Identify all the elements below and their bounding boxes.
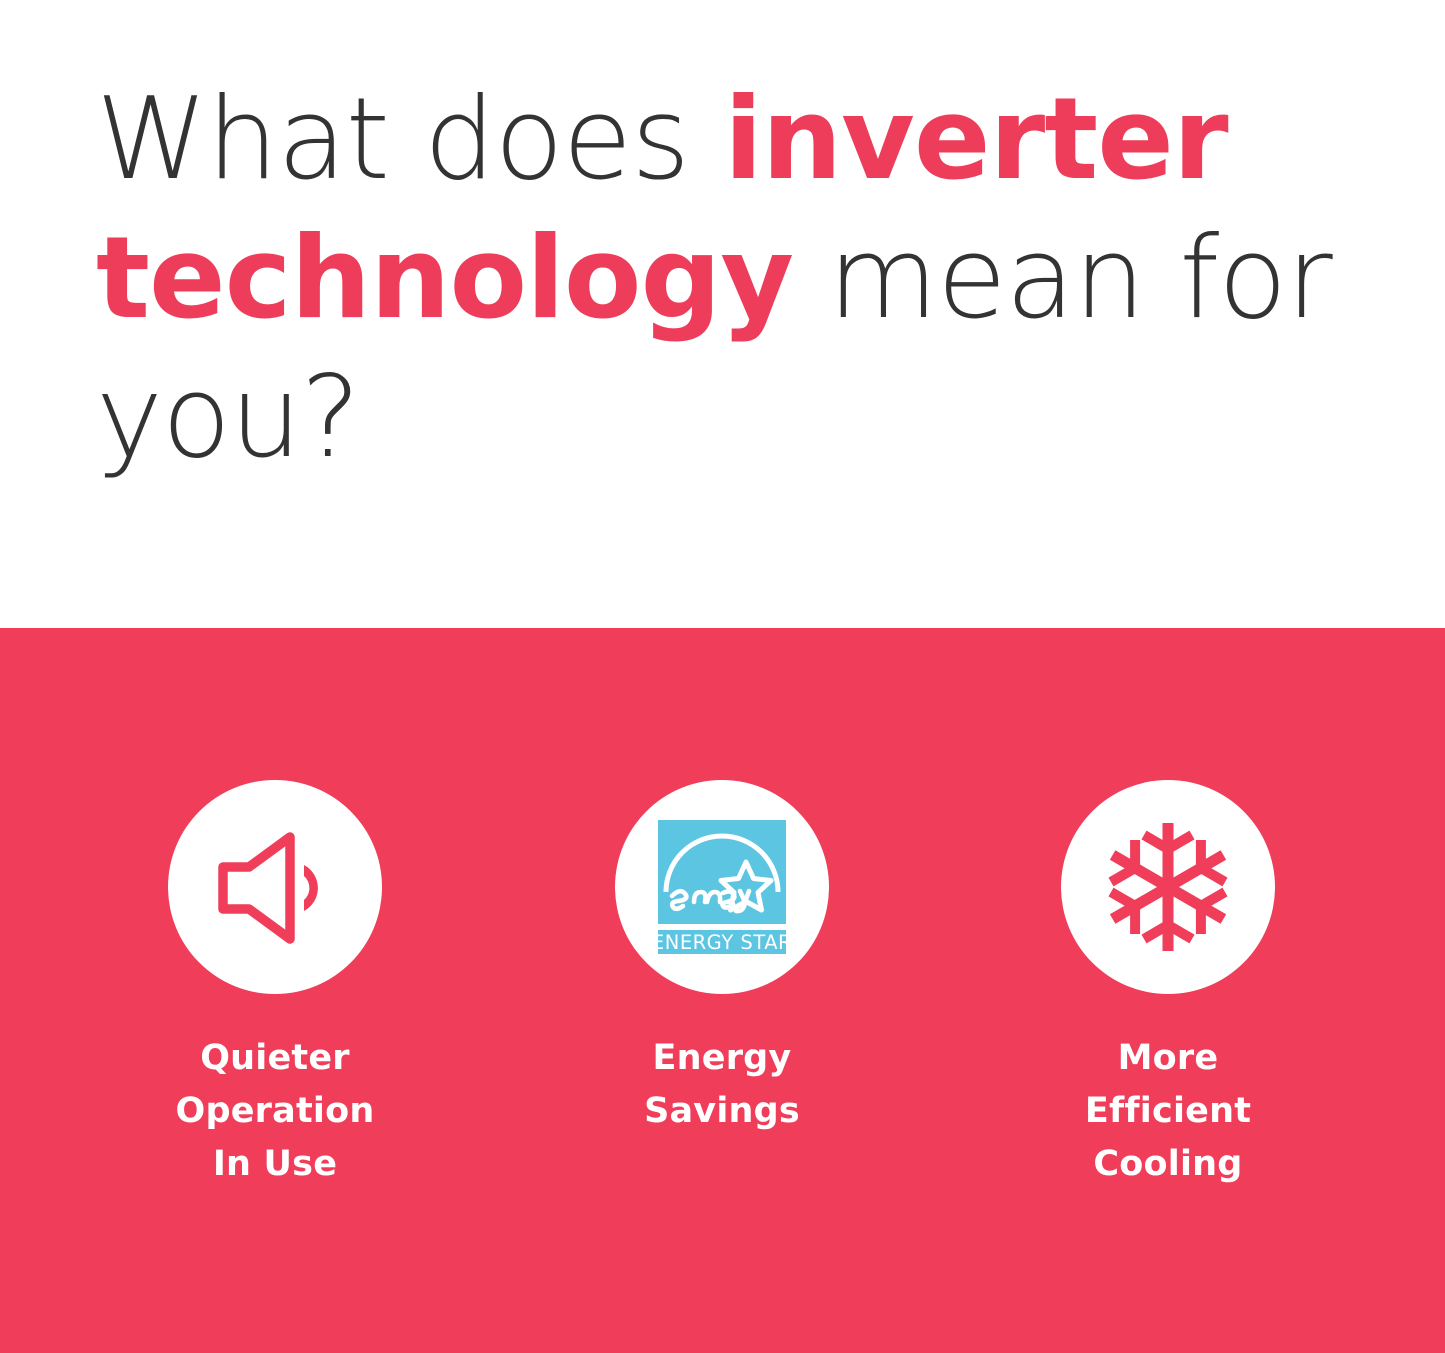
- feature-label-line-1: Energy: [653, 1038, 792, 1078]
- feature-label: EnergySavings: [644, 1032, 800, 1138]
- feature-label-line-2: Savings: [644, 1091, 800, 1131]
- feature-band: QuieterOperationIn Use: [0, 628, 1445, 1353]
- feature-list: QuieterOperationIn Use: [0, 628, 1445, 1353]
- feature-label: QuieterOperationIn Use: [176, 1032, 375, 1191]
- energy-star-caption: ENERGY STAR: [658, 931, 786, 954]
- page-title: What does inverter technology mean for y…: [96, 70, 1396, 487]
- speaker-volume-icon: [211, 823, 339, 951]
- feature-label-line-3: In Use: [213, 1144, 337, 1184]
- snowflake-icon: [1096, 815, 1240, 959]
- feature-label-line-1: More: [1118, 1038, 1219, 1078]
- icon-circle: [1061, 780, 1275, 994]
- hero-section: What does inverter technology mean for y…: [0, 0, 1445, 628]
- feature-label-line-2: Operation: [176, 1091, 375, 1131]
- feature-item-energy-savings: ENERGY STAR EnergySavings: [572, 780, 872, 1138]
- icon-circle: [168, 780, 382, 994]
- icon-circle: ENERGY STAR: [615, 780, 829, 994]
- feature-item-quieter-operation: QuieterOperationIn Use: [125, 780, 425, 1191]
- energy-star-logo-icon: ENERGY STAR: [658, 820, 786, 954]
- feature-label-line-1: Quieter: [200, 1038, 350, 1078]
- feature-label-line-2: Efficient: [1085, 1091, 1251, 1131]
- feature-item-efficient-cooling: MoreEfficientCooling: [1018, 780, 1318, 1191]
- feature-label-line-3: Cooling: [1093, 1144, 1242, 1184]
- feature-label: MoreEfficientCooling: [1085, 1032, 1251, 1191]
- headline-part-1: What does: [96, 73, 724, 205]
